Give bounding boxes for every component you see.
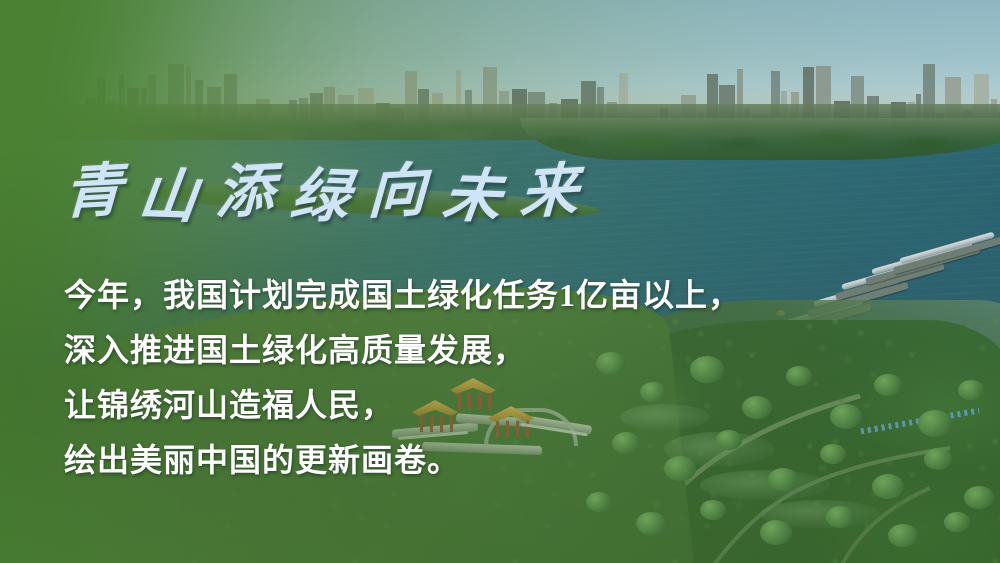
park-tree xyxy=(830,404,862,429)
park-tree xyxy=(760,520,792,545)
park-tree xyxy=(874,374,902,396)
body-line-2: 深入推进国土绿化高质量发展， xyxy=(64,323,884,378)
poster-canvas: 青山添绿向未来 今年，我国计划完成国土绿化任务1亿亩以上， 深入推进国土绿化高质… xyxy=(0,0,1000,563)
poster-title: 青山添绿向未来 xyxy=(61,148,628,228)
park-tree xyxy=(918,410,952,437)
park-tree xyxy=(664,456,696,481)
poster-body: 今年，我国计划完成国土绿化任务1亿亩以上， 深入推进国土绿化高质量发展， 让锦绣… xyxy=(64,268,884,488)
park-tree xyxy=(872,474,904,499)
park-tree xyxy=(690,356,724,383)
body-line-1: 今年，我国计划完成国土绿化任务1亿亩以上， xyxy=(64,268,884,323)
park-tree xyxy=(924,448,952,470)
title-char-3: 添 xyxy=(215,142,280,229)
body-line-4: 绘出美丽中国的更新画卷。 xyxy=(64,433,884,488)
title-char-5: 向 xyxy=(367,142,432,229)
title-char-7: 来 xyxy=(519,142,584,229)
park-tree xyxy=(826,506,854,528)
park-tree xyxy=(612,432,640,454)
title-char-2: 山 xyxy=(135,148,207,234)
title-char-6: 未 xyxy=(439,148,511,234)
title-char-4: 绿 xyxy=(287,148,359,234)
title-char-1: 青 xyxy=(62,142,127,229)
